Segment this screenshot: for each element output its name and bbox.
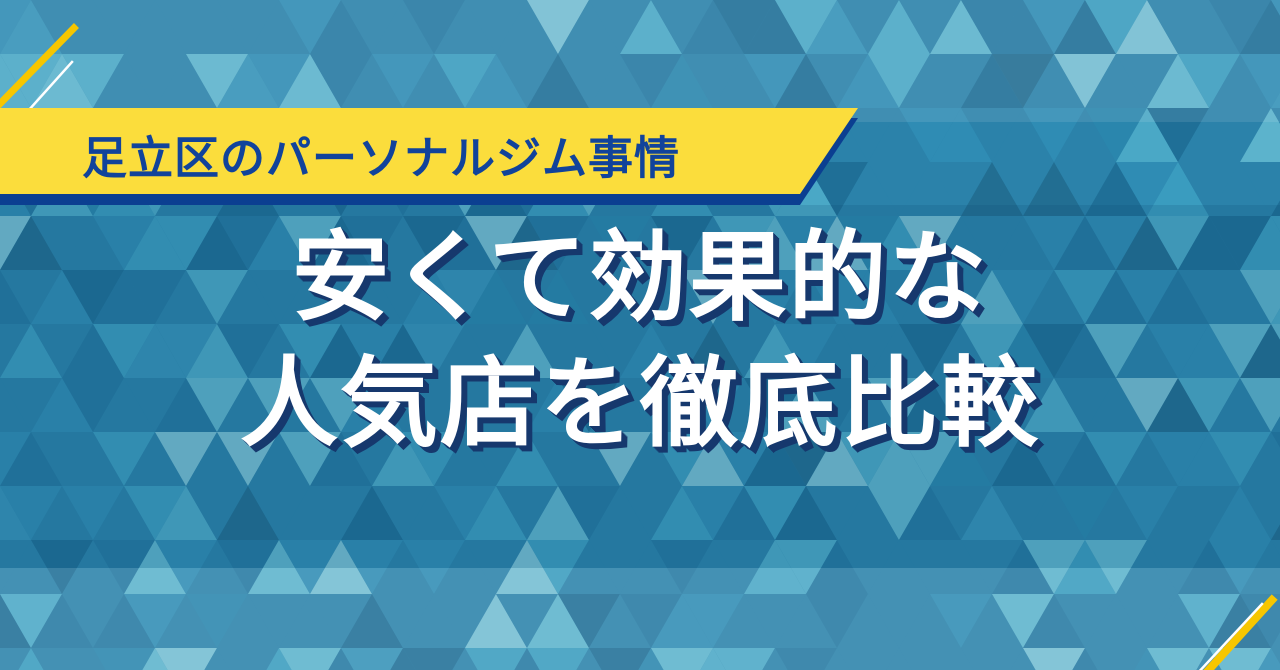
- banner-canvas: 足立区のパーソナルジム事情 安くて効果的な 人気店を徹底比較: [0, 0, 1280, 670]
- headline-block: 安くて効果的な 人気店を徹底比較: [0, 228, 1280, 452]
- ribbon-banner: 足立区のパーソナルジム事情: [0, 108, 890, 208]
- headline-line-1: 安くて効果的な: [0, 228, 1280, 326]
- headline-line-2: 人気店を徹底比較: [0, 354, 1280, 452]
- ribbon-label: 足立区のパーソナルジム事情: [82, 136, 680, 181]
